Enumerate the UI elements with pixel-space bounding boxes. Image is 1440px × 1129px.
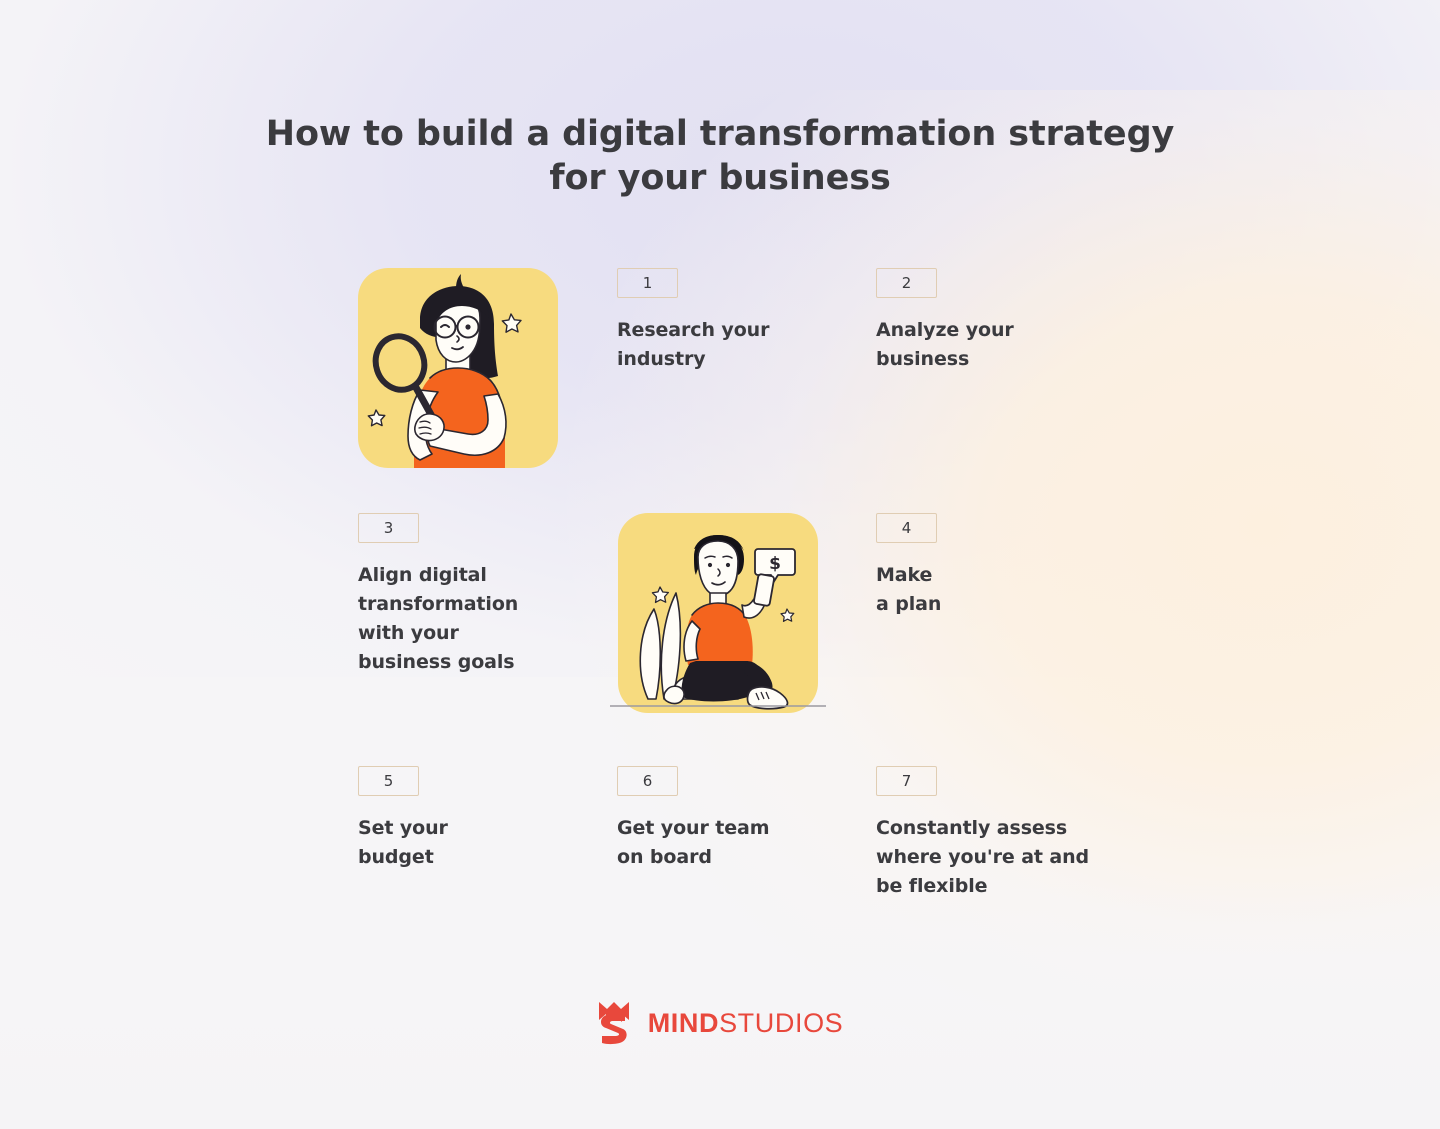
sparkle-icon (502, 314, 521, 332)
step-label-3: Align digital transformation with your b… (358, 561, 588, 677)
logo-wordmark: MINDSTUDIOS (648, 1008, 844, 1039)
step-label-5: Set your budget (358, 814, 588, 872)
step-item-2: 2 Analyze your business (876, 268, 1142, 374)
logo-wordmark-mind: MIND (648, 1008, 719, 1038)
step-item-6: 6 Get your team on board (617, 766, 876, 872)
step-number-badge-4: 4 (876, 513, 937, 543)
man-sitting-with-phone-illustration: $ (618, 513, 818, 713)
step-label-4: Make a plan (876, 561, 1106, 619)
phone (754, 574, 775, 606)
dollar-symbol: $ (769, 554, 781, 574)
illustration-card-man: $ (618, 513, 818, 713)
illustration-cell-1 (358, 268, 617, 513)
step-number-badge-6: 6 (617, 766, 678, 796)
step-cell-6: 6 Get your team on board (617, 766, 876, 901)
step-item-1: 1 Research your industry (617, 268, 876, 374)
sparkle-icon (652, 587, 668, 602)
step-cell-7: 7 Constantly assess where you're at and … (876, 766, 1142, 901)
mindstudios-shield-logo-icon (597, 1000, 631, 1046)
step-item-4: 4 Make a plan (876, 513, 1142, 619)
step-label-7: Constantly assess where you're at and be… (876, 814, 1106, 901)
step-label-6: Get your team on board (617, 814, 847, 872)
right-eye (726, 563, 730, 567)
step-item-5: 5 Set your budget (358, 766, 617, 872)
left-eye (708, 563, 712, 567)
step-item-7: 7 Constantly assess where you're at and … (876, 766, 1142, 901)
illustration-card-woman (358, 268, 558, 468)
step-label-2: Analyze your business (876, 316, 1106, 374)
step-number-badge-1: 1 (617, 268, 678, 298)
step-label-1: Research your industry (617, 316, 847, 374)
sparkle-icon (781, 609, 794, 621)
step-cell-2: 2 Analyze your business (876, 268, 1142, 513)
page-title-line-2: for your business (0, 156, 1440, 200)
logo-wordmark-studios: STUDIOS (719, 1008, 843, 1038)
step-cell-4: 4 Make a plan (876, 513, 1142, 766)
steps-grid: 1 Research your industry 2 Analyze your … (358, 268, 1142, 901)
sparkle-icon (368, 410, 385, 426)
step-cell-1: 1 Research your industry (617, 268, 876, 513)
footer-logo[interactable]: MINDSTUDIOS (0, 1000, 1440, 1046)
right-eye (465, 324, 470, 329)
step-item-3: 3 Align digital transformation with your… (358, 513, 617, 677)
infographic-page: How to build a digital transformation st… (0, 0, 1440, 1129)
step-number-badge-3: 3 (358, 513, 419, 543)
plant-leaf-left (640, 609, 660, 699)
page-title-line-1: How to build a digital transformation st… (0, 112, 1440, 156)
step-number-badge-2: 2 (876, 268, 937, 298)
step-number-badge-5: 5 (358, 766, 419, 796)
step-number-badge-7: 7 (876, 766, 937, 796)
page-title: How to build a digital transformation st… (0, 112, 1440, 200)
illustration-cell-2: $ (617, 513, 876, 766)
woman-with-magnifying-glass-illustration (358, 268, 558, 468)
bare-foot (664, 686, 684, 703)
magnifier-lens (369, 330, 431, 396)
step-cell-3: 3 Align digital transformation with your… (358, 513, 617, 766)
step-cell-5: 5 Set your budget (358, 766, 617, 901)
hand (415, 414, 444, 441)
hair-cowlick (456, 274, 464, 288)
